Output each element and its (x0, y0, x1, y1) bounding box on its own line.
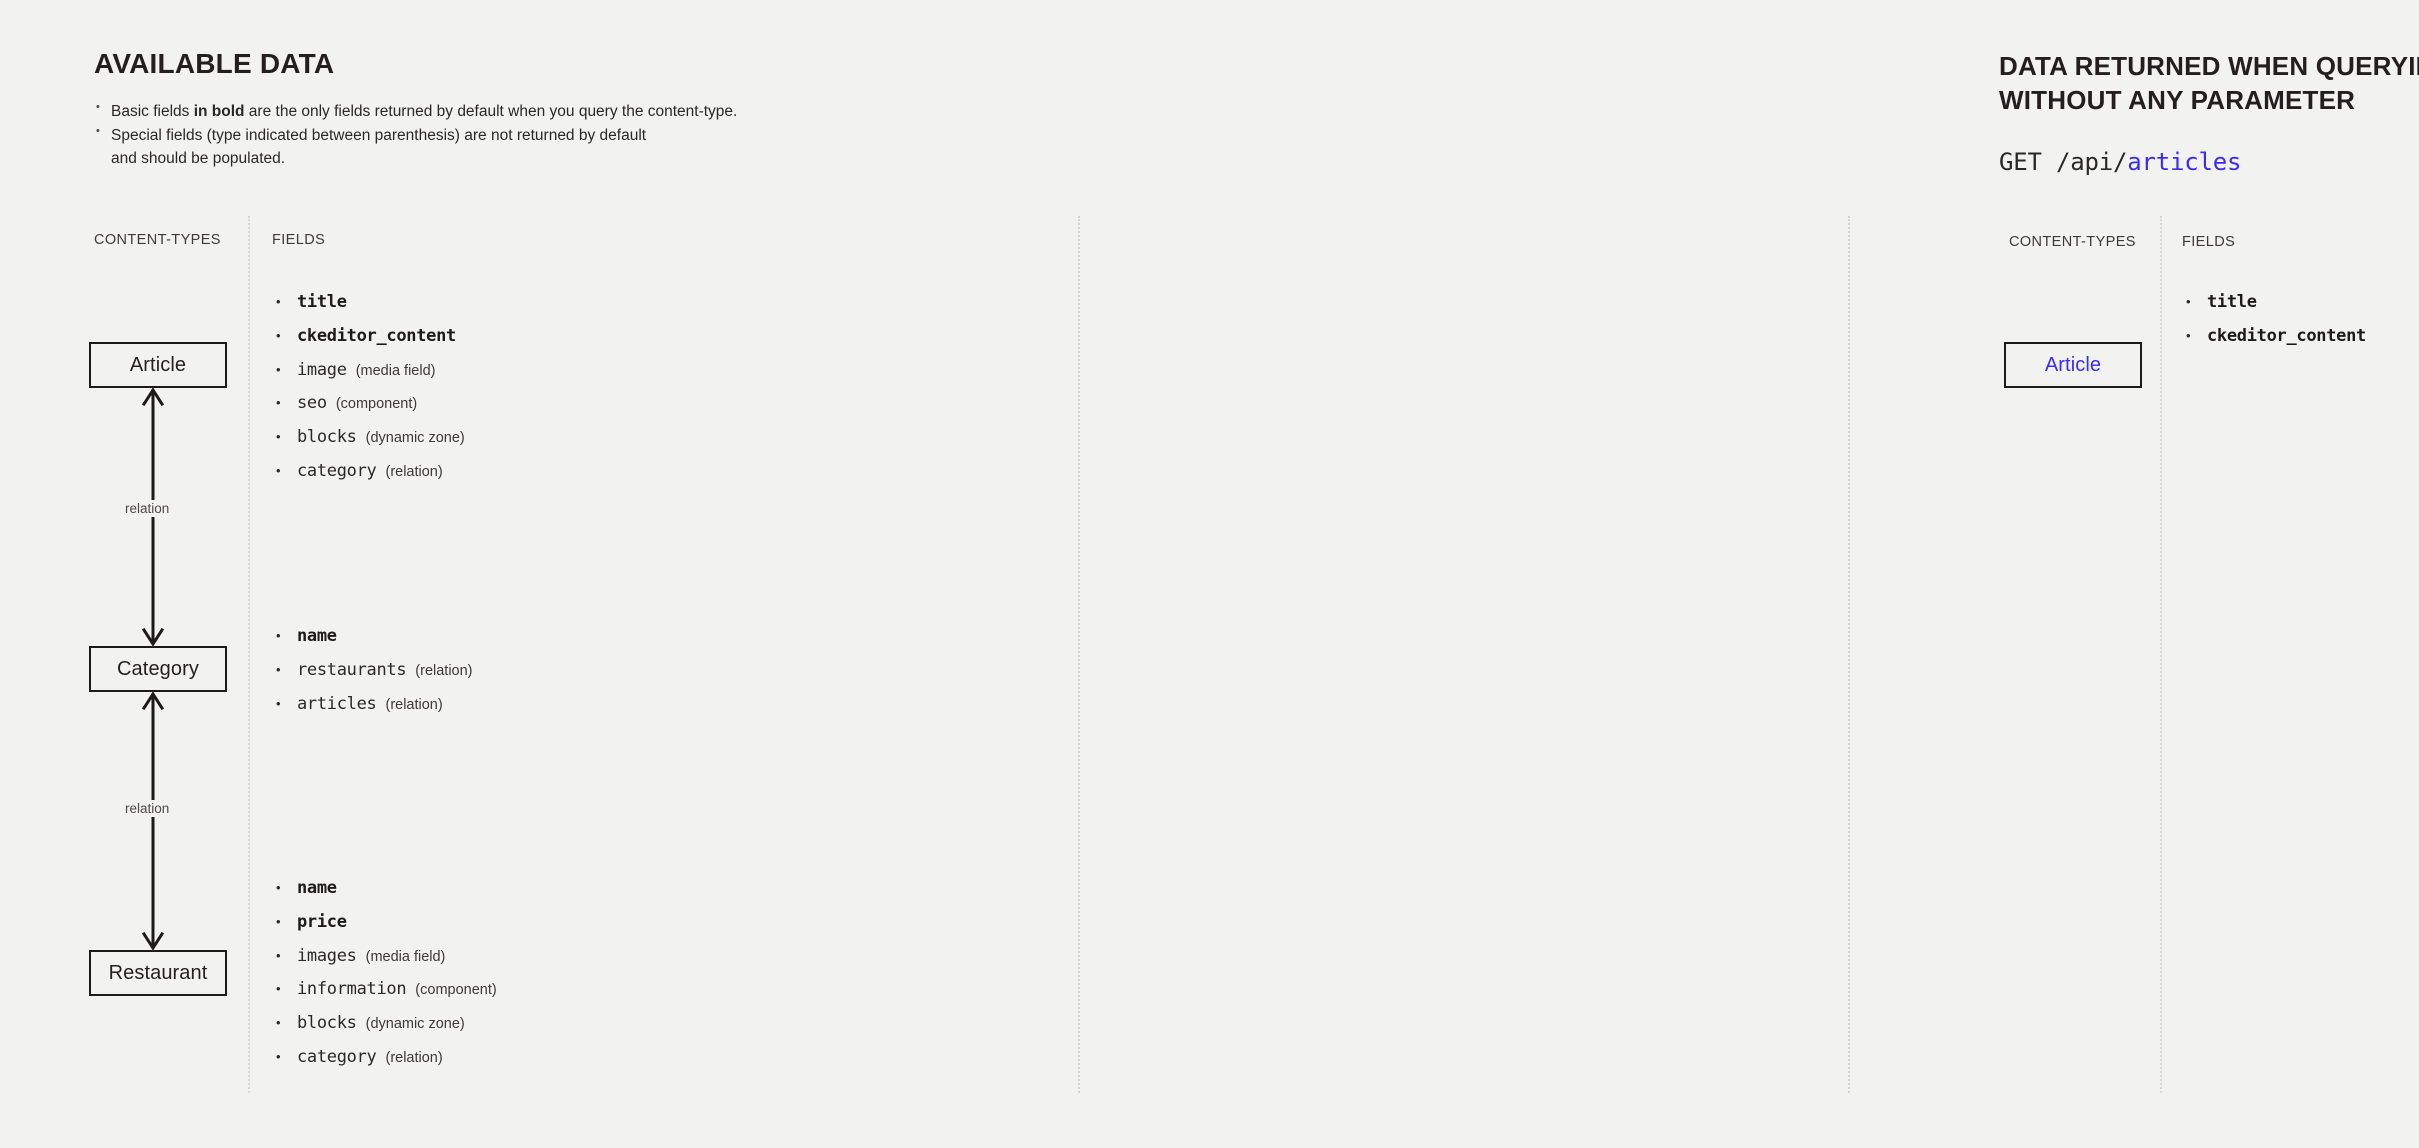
panel-1-label-content-types: CONTENT-TYPES (94, 232, 221, 248)
field-type: (relation) (385, 1050, 442, 1066)
field-list-item: information(component) (272, 979, 497, 999)
field-type: (media field) (366, 949, 446, 965)
panel-1-title: AVAILABLE DATA (94, 46, 334, 82)
field-name: price (297, 912, 347, 932)
field-list-item: blocks(dynamic zone) (272, 1013, 497, 1033)
field-type: (component) (336, 396, 417, 412)
panel-query-populate-all: DATA RETURNED WHEN QUERYING ARTICLES AND… (1770, 0, 2419, 1148)
field-name: image (297, 360, 347, 380)
legend-bullet-2-continuation: and should be populated. (94, 147, 737, 171)
field-type: (relation) (385, 464, 442, 480)
field-list-item: ckeditor_content (272, 326, 465, 346)
field-list-item: category(relation) (272, 461, 465, 481)
field-name: name (297, 878, 337, 898)
field-name: ckeditor_content (297, 326, 456, 346)
field-type: (media field) (356, 363, 436, 379)
panel-1-legend: Basic fields in bold are the only fields… (94, 100, 737, 171)
field-name: articles (297, 694, 376, 714)
legend-bullet-1-bold: in bold (194, 103, 245, 120)
field-name: blocks (297, 1013, 357, 1033)
field-type: (relation) (415, 663, 472, 679)
field-name: seo (297, 393, 327, 413)
entity-box-article[interactable]: Article (89, 342, 227, 388)
relation-label-category-restaurant: relation (120, 800, 174, 817)
field-name: images (297, 946, 357, 966)
entity-box-restaurant-label: Restaurant (109, 962, 208, 985)
field-type: (dynamic zone) (366, 1016, 465, 1032)
field-list-article: titleckeditor_contentimage(media field)s… (272, 292, 465, 495)
relation-arrow-category-restaurant (141, 690, 165, 952)
legend-bullet-2-text: Special fields (type indicated between p… (111, 127, 646, 144)
entity-box-restaurant[interactable]: Restaurant (89, 950, 227, 996)
entity-box-category-label: Category (117, 658, 199, 681)
field-name: title (297, 292, 347, 312)
field-list-item: name (272, 626, 473, 646)
field-type: (relation) (385, 697, 442, 713)
legend-bullet-1-pre: Basic fields (111, 103, 194, 120)
field-name: restaurants (297, 660, 406, 680)
field-list-item: name (272, 878, 497, 898)
entity-box-category[interactable]: Category (89, 646, 227, 692)
field-list-item: price (272, 912, 497, 932)
field-list-category: namerestaurants(relation)articles(relati… (272, 626, 473, 727)
diagram-board: AVAILABLE DATA Basic fields in bold are … (0, 0, 2419, 1148)
relation-label-article-category: relation (120, 500, 174, 517)
panel-1-inner-separator (248, 216, 250, 1093)
field-name: name (297, 626, 337, 646)
field-list-item: category(relation) (272, 1047, 497, 1067)
field-type: (dynamic zone) (366, 430, 465, 446)
panel-available-data: AVAILABLE DATA Basic fields in bold are … (0, 0, 1080, 1148)
legend-bullet-1-post: are the only fields returned by default … (245, 103, 738, 120)
field-type: (component) (415, 982, 496, 998)
field-list-item: seo(component) (272, 393, 465, 413)
field-list-item: articles(relation) (272, 694, 473, 714)
panel-query-no-parameter: DATA RETURNED WHEN QUERYING ARTICLES WIT… (1080, 0, 1770, 1148)
legend-bullet-2: Special fields (type indicated between p… (94, 124, 737, 148)
field-name: category (297, 461, 376, 481)
field-list-item: restaurants(relation) (272, 660, 473, 680)
field-list-item: image(media field) (272, 360, 465, 380)
field-list-restaurant: namepriceimages(media field)information(… (272, 878, 497, 1081)
field-list-item: blocks(dynamic zone) (272, 427, 465, 447)
field-name: blocks (297, 427, 357, 447)
relation-arrow-article-category (141, 386, 165, 648)
entity-box-article-label: Article (130, 354, 186, 377)
field-list-item: title (272, 292, 465, 312)
panel-1-label-fields: FIELDS (272, 232, 325, 248)
field-name: category (297, 1047, 376, 1067)
field-list-item: images(media field) (272, 946, 497, 966)
legend-bullet-1: Basic fields in bold are the only fields… (94, 100, 737, 124)
field-name: information (297, 979, 406, 999)
